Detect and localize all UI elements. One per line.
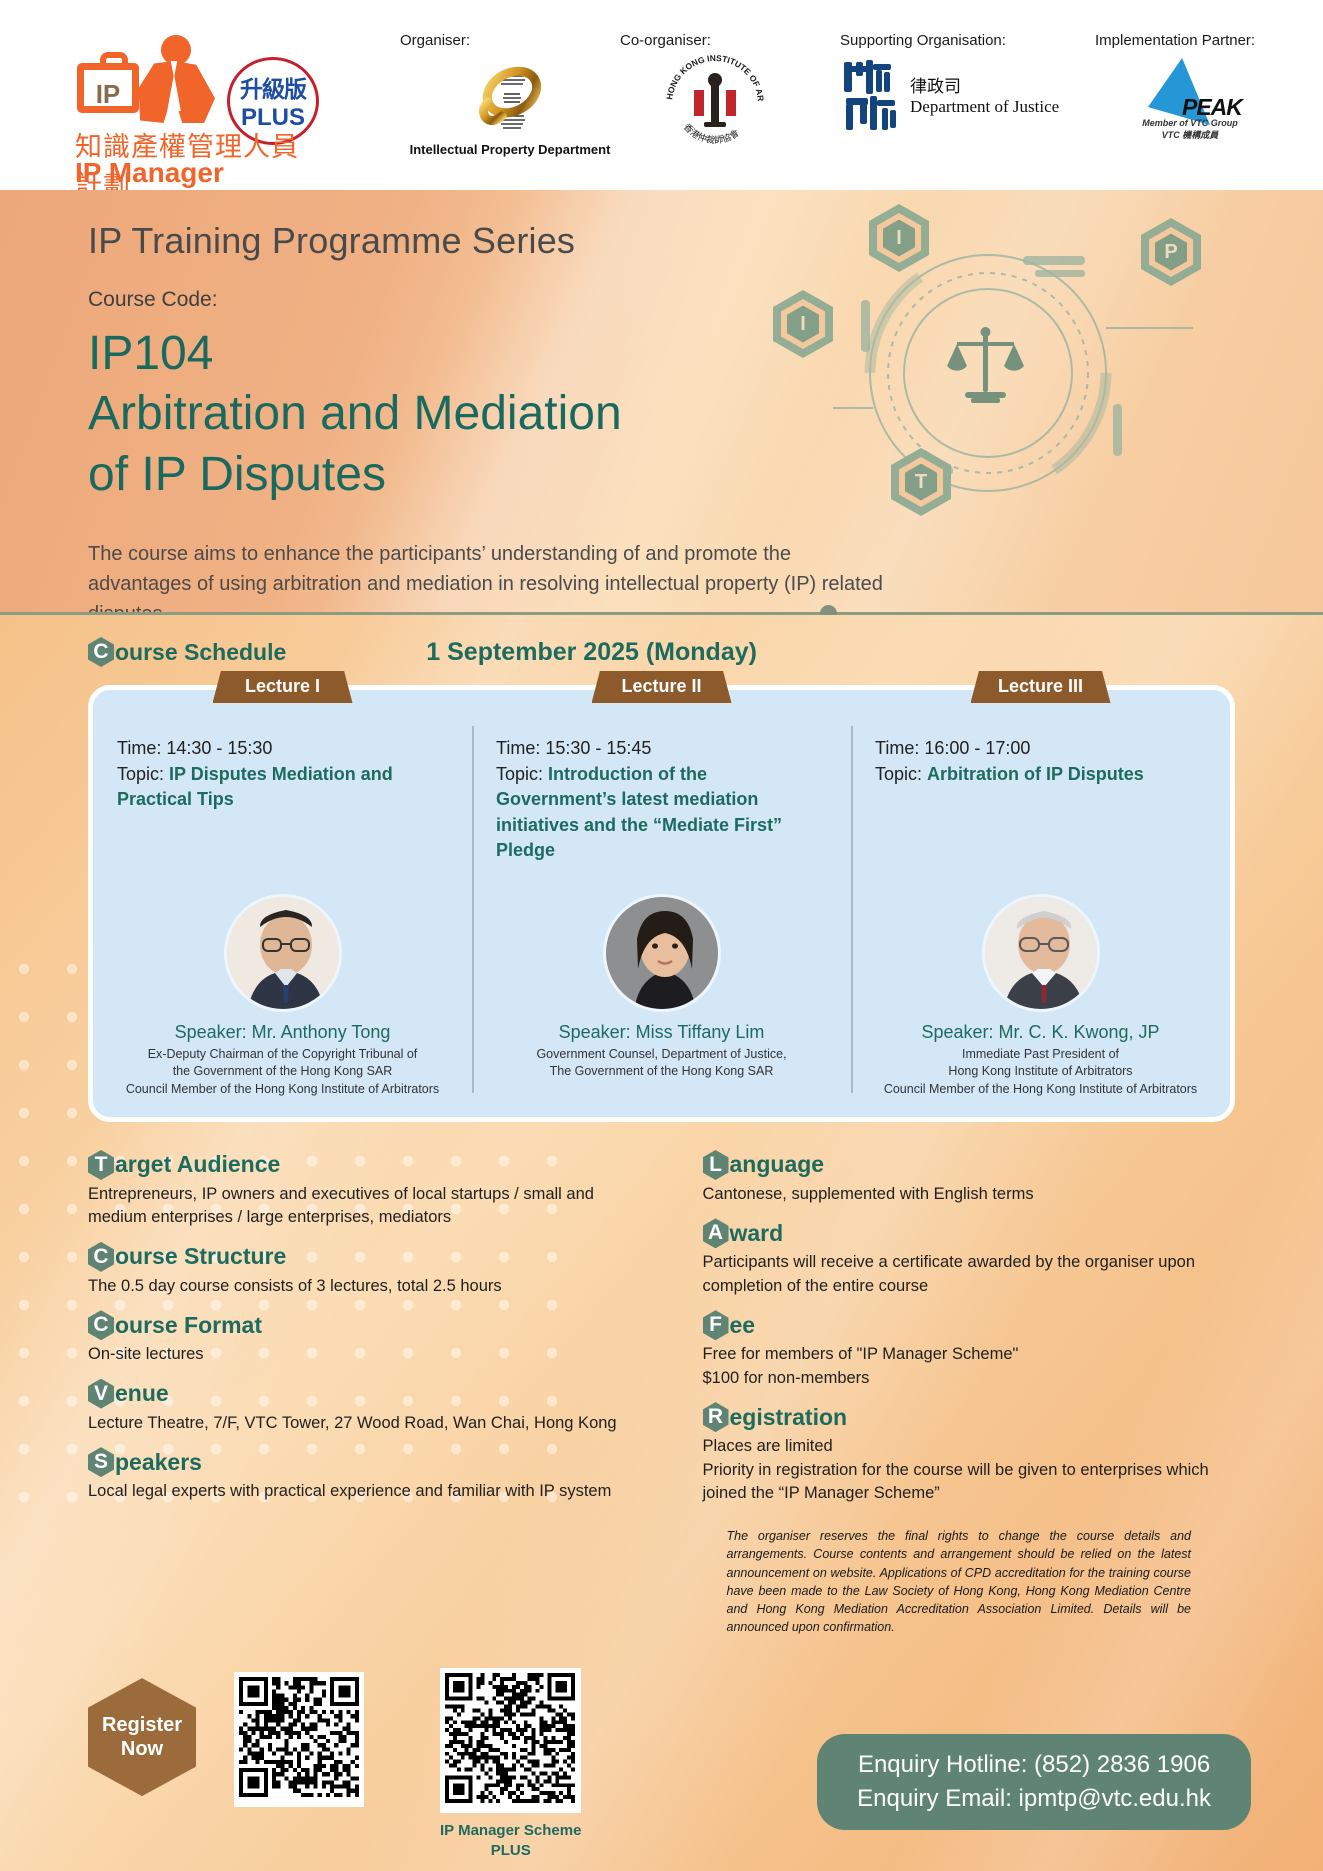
fee-heading: F ee — [703, 1310, 1254, 1340]
info-column-right: L anguage Cantonese, supplemented with E… — [677, 1150, 1254, 1636]
hex-letter-icon: C — [88, 1242, 114, 1272]
course-title-line2: of IP Disputes — [88, 445, 1323, 505]
organiser-label: Organiser: — [400, 32, 620, 50]
lecture-3-topic-label: Topic: — [875, 764, 927, 784]
course-schedule-heading-text: ourse Schedule — [115, 639, 286, 666]
course-date: 1 September 2025 (Monday) — [426, 638, 757, 667]
award-text: Participants will receive a certificate … — [703, 1251, 1254, 1298]
qr-code-scheme-block: IP Manager Scheme PLUS — [440, 1668, 581, 1860]
partner-implementation: Implementation Partner: PEAK Member of V… — [1095, 32, 1285, 134]
speaker-1-role-line1: Ex-Deputy Chairman of the Copyright Trib… — [109, 1046, 456, 1064]
qr-code-registration-block — [234, 1672, 364, 1807]
speaker-1-name: Speaker: Mr. Anthony Tong — [109, 1022, 456, 1043]
lecture-tab-3[interactable]: Lecture III — [971, 671, 1111, 703]
peak-wordmark: PEAK — [1182, 94, 1242, 121]
lecture-2-topic-label: Topic: — [496, 764, 548, 784]
course-title-line1: Arbitration and Mediation — [88, 384, 1323, 444]
language-text: Cantonese, supplemented with English ter… — [703, 1183, 1254, 1206]
lecture-3-time-line: Time: 16:00 - 17:00 — [875, 736, 1208, 762]
info-block-speakers: S peakers Local legal experts with pract… — [88, 1447, 639, 1503]
register-line-2: Now — [121, 1737, 163, 1761]
hero-divider-line — [0, 612, 1323, 615]
enquiry-box-wrapper: Enquiry Hotline: (852) 2836 1906 Enquiry… — [817, 1734, 1251, 1830]
course-format-heading: C ourse Format — [88, 1310, 639, 1340]
target-audience-heading-text: arget Audience — [115, 1151, 280, 1178]
hero-divider-dot — [820, 605, 837, 615]
partner-co-organiser: Co-organiser: HONG KONG INSTITUTE OF ARB… — [620, 32, 810, 140]
speaker-1-role-line3: Council Member of the Hong Kong Institut… — [109, 1081, 456, 1099]
briefcase-icon: IP — [77, 63, 139, 113]
course-info-columns: T arget Audience Entrepreneurs, IP owner… — [0, 1122, 1323, 1636]
lecture-3-topic-line: Topic: Arbitration of IP Disputes — [875, 762, 1208, 788]
lecture-tabs-row: Lecture I Lecture II Lecture III — [93, 671, 1230, 703]
lecture-3-time-label: Time: — [875, 738, 924, 758]
briefcase-ip-label: IP — [84, 79, 132, 110]
info-block-course-format: C ourse Format On-site lectures — [88, 1310, 639, 1366]
course-schedule-header: C ourse Schedule 1 September 2025 (Monda… — [0, 615, 1323, 667]
speaker-1-role-line2: the Government of the Hong Kong SAR — [109, 1063, 456, 1081]
speakers-heading: S peakers — [88, 1447, 639, 1477]
lecture-3-topic: Arbitration of IP Disputes — [927, 764, 1144, 784]
partner-supporting-organisation: Supporting Organisation: — [840, 32, 1090, 130]
hex-letter-icon: T — [88, 1150, 114, 1180]
person-head-icon — [161, 35, 191, 65]
speaker-card-1: Speaker: Mr. Anthony Tong Ex-Deputy Chai… — [93, 880, 472, 1117]
speaker-2-role: Government Counsel, Department of Justic… — [488, 1046, 835, 1082]
doj-logo-block: 律政司 Department of Justice — [840, 58, 1090, 130]
info-block-registration: R egistration Places are limited Priorit… — [703, 1402, 1254, 1505]
qr-label-line2: PLUS — [491, 1842, 531, 1859]
language-heading-text: anguage — [730, 1151, 825, 1178]
main-content-area: C ourse Schedule 1 September 2025 (Monda… — [0, 615, 1323, 1871]
venue-heading-text: enue — [115, 1380, 169, 1407]
enquiry-hotline[interactable]: Enquiry Hotline: (852) 2836 1906 — [857, 1748, 1211, 1782]
info-block-fee: F ee Free for members of "IP Manager Sch… — [703, 1310, 1254, 1390]
hex-letter-icon: A — [703, 1218, 729, 1248]
lecture-1-topic-label: Topic: — [117, 764, 169, 784]
doj-chinese-name: 律政司 — [910, 72, 1059, 97]
course-structure-heading: C ourse Structure — [88, 1242, 639, 1272]
speaker-3-name: Speaker: Mr. C. K. Kwong, JP — [867, 1022, 1214, 1043]
language-heading: L anguage — [703, 1150, 1254, 1180]
ipd-ring-logo-icon — [460, 58, 560, 138]
speaker-card-2: Speaker: Miss Tiffany Lim Government Cou… — [472, 880, 851, 1117]
lecture-1-topic-line: Topic: IP Disputes Mediation and Practic… — [117, 762, 450, 813]
target-audience-text: Entrepreneurs, IP owners and executives … — [88, 1183, 639, 1230]
qr-code-registration[interactable] — [234, 1672, 364, 1807]
info-block-target-audience: T arget Audience Entrepreneurs, IP owner… — [88, 1150, 639, 1230]
hkia-logo-icon: HONG KONG INSTITUTE OF ARBITRATORS 香港仲裁師… — [660, 52, 770, 140]
hex-letter-icon: C — [88, 1310, 114, 1340]
qr-label-line1: IP Manager Scheme — [440, 1822, 581, 1839]
lecture-1-time-label: Time: — [117, 738, 166, 758]
fee-text: Free for members of "IP Manager Scheme" … — [703, 1343, 1254, 1390]
partner-organiser: Organiser: — [400, 32, 620, 157]
info-block-language: L anguage Cantonese, supplemented with E… — [703, 1150, 1254, 1206]
implementation-partner-label: Implementation Partner: — [1095, 32, 1285, 50]
hex-letter-icon: V — [88, 1379, 114, 1409]
peak-sub-line1: Member of VTC Group — [1142, 118, 1238, 128]
organiser-name: Intellectual Property Department — [400, 142, 620, 157]
lecture-detail-3: Time: 16:00 - 17:00 Topic: Arbitration o… — [851, 720, 1230, 880]
lecture-2-time-line: Time: 15:30 - 15:45 — [496, 736, 829, 762]
ip-manager-scheme-logo: IP 升級版 PLUS 知識產權管理人員計劃 IP Manager Scheme — [75, 35, 325, 175]
registration-heading-text: egistration — [730, 1404, 848, 1431]
hex-letter-icon: L — [703, 1150, 729, 1180]
course-structure-heading-text: ourse Structure — [115, 1243, 286, 1270]
speaker-2-avatar — [603, 894, 721, 1012]
course-structure-text: The 0.5 day course consists of 3 lecture… — [88, 1275, 639, 1298]
venue-heading: V enue — [88, 1379, 639, 1409]
hex-letter-icon: S — [88, 1447, 114, 1477]
lecture-tab-1[interactable]: Lecture I — [213, 671, 353, 703]
course-code-label: Course Code: — [88, 288, 1323, 312]
header-logos-bar: IP 升級版 PLUS 知識產權管理人員計劃 IP Manager Scheme… — [0, 0, 1323, 190]
speaker-3-role-line2: Hong Kong Institute of Arbitrators — [867, 1063, 1214, 1081]
lecture-2-time-label: Time: — [496, 738, 545, 758]
hero-text-block: IP Training Programme Series Course Code… — [0, 190, 1323, 615]
briefcase-handle-icon — [100, 52, 128, 70]
course-format-heading-text: ourse Format — [115, 1312, 262, 1339]
registration-text: Places are limited Priority in registrat… — [703, 1435, 1254, 1505]
co-organiser-label: Co-organiser: — [620, 32, 810, 50]
fee-heading-text: ee — [730, 1312, 756, 1339]
speaker-1-avatar — [224, 894, 342, 1012]
enquiry-box: Enquiry Hotline: (852) 2836 1906 Enquiry… — [817, 1734, 1251, 1830]
register-now-button[interactable]: Register Now — [88, 1678, 196, 1796]
info-block-award: A ward Participants will receive a certi… — [703, 1218, 1254, 1298]
speaker-card-3: Speaker: Mr. C. K. Kwong, JP Immediate P… — [851, 880, 1230, 1117]
speaker-3-avatar — [982, 894, 1100, 1012]
doj-text-block: 律政司 Department of Justice — [910, 72, 1059, 117]
award-heading-text: ward — [730, 1220, 784, 1247]
course-format-text: On-site lectures — [88, 1343, 639, 1366]
lecture-detail-2: Time: 15:30 - 15:45 Topic: Introduction … — [472, 720, 851, 880]
target-audience-heading: T arget Audience — [88, 1150, 639, 1180]
registration-heading: R egistration — [703, 1402, 1254, 1432]
speaker-3-role-line1: Immediate Past President of — [867, 1046, 1214, 1064]
supporting-organisation-label: Supporting Organisation: — [840, 32, 1090, 50]
businessman-icon — [127, 35, 222, 123]
award-heading: A ward — [703, 1218, 1254, 1248]
enquiry-email[interactable]: Enquiry Email: ipmtp@vtc.edu.hk — [857, 1782, 1211, 1816]
hex-letter-icon: F — [703, 1310, 729, 1340]
lecture-3-time: 16:00 - 17:00 — [924, 738, 1030, 758]
speaker-3-role: Immediate Past President of Hong Kong In… — [867, 1046, 1214, 1099]
lecture-2-topic-line: Topic: Introduction of the Government’s … — [496, 762, 829, 864]
speakers-text: Local legal experts with practical exper… — [88, 1480, 639, 1503]
hex-letter-icon: C — [88, 637, 114, 667]
schedule-card: Lecture I Lecture II Lecture III Time: 1… — [88, 685, 1235, 1122]
disclaimer-text: The organiser reserves the final rights … — [727, 1527, 1192, 1636]
speakers-heading-text: peakers — [115, 1449, 202, 1476]
venue-text: Lecture Theatre, 7/F, VTC Tower, 27 Wood… — [88, 1412, 639, 1435]
doj-seal-icon — [840, 58, 902, 130]
speaker-1-role: Ex-Deputy Chairman of the Copyright Trib… — [109, 1046, 456, 1099]
peak-subtitle: Member of VTC Group VTC 機構成員 — [1130, 118, 1250, 141]
qr-code-ip-manager-scheme[interactable] — [440, 1668, 581, 1813]
peak-logo-icon: PEAK Member of VTC Group VTC 機構成員 — [1130, 56, 1250, 134]
lecture-2-time: 15:30 - 15:45 — [545, 738, 651, 758]
programme-series-title: IP Training Programme Series — [88, 220, 1323, 262]
lecture-1-time: 14:30 - 15:30 — [166, 738, 272, 758]
info-column-left: T arget Audience Entrepreneurs, IP owner… — [88, 1150, 639, 1636]
speaker-2-name: Speaker: Miss Tiffany Lim — [488, 1022, 835, 1043]
ipms-figure-icon: IP — [75, 35, 235, 120]
lecture-details-row: Time: 14:30 - 15:30 Topic: IP Disputes M… — [93, 690, 1230, 880]
doj-english-name: Department of Justice — [910, 97, 1059, 117]
speaker-3-role-line3: Council Member of the Hong Kong Institut… — [867, 1081, 1214, 1099]
speaker-2-role-line2: The Government of the Hong Kong SAR — [488, 1063, 835, 1081]
info-block-course-structure: C ourse Structure The 0.5 day course con… — [88, 1242, 639, 1298]
peak-sub-line2: VTC 機構成員 — [1162, 130, 1219, 140]
lecture-tab-2[interactable]: Lecture II — [592, 671, 732, 703]
lecture-1-time-line: Time: 14:30 - 15:30 — [117, 736, 450, 762]
plus-badge-cn-label: 升級版 — [240, 70, 306, 104]
register-line-1: Register — [102, 1713, 182, 1737]
lecture-detail-1: Time: 14:30 - 15:30 Topic: IP Disputes M… — [93, 720, 472, 880]
course-schedule-heading: C ourse Schedule — [88, 637, 286, 667]
course-description: The course aims to enhance the participa… — [88, 539, 888, 615]
qr-code-label: IP Manager Scheme PLUS — [440, 1821, 581, 1860]
hero-banner: I I P T IP Training Programme Series Cou… — [0, 190, 1323, 615]
course-code-value: IP104 — [88, 324, 1323, 384]
hex-letter-icon: R — [703, 1402, 729, 1432]
speakers-row: Speaker: Mr. Anthony Tong Ex-Deputy Chai… — [93, 880, 1230, 1117]
speaker-2-role-line1: Government Counsel, Department of Justic… — [488, 1046, 835, 1064]
info-block-venue: V enue Lecture Theatre, 7/F, VTC Tower, … — [88, 1379, 639, 1435]
